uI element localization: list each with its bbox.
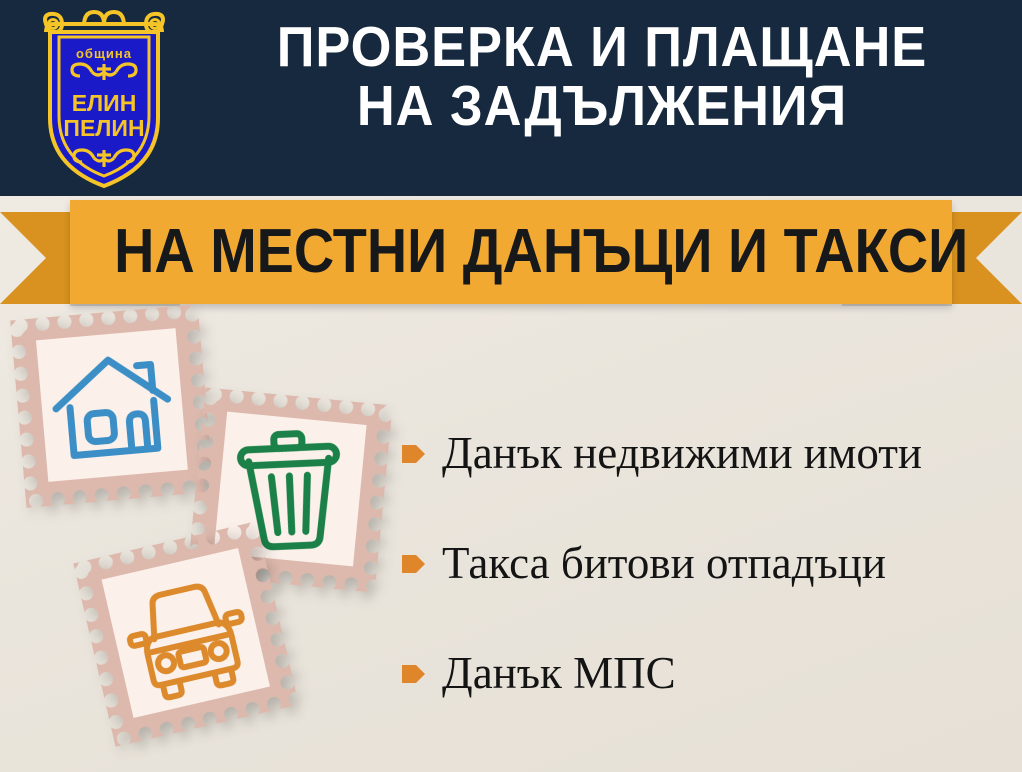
list-item[interactable]: Такса битови отпадъци	[400, 534, 1010, 592]
list-item[interactable]: Данък недвижими имоти	[400, 424, 1010, 482]
arrow-bullet-icon	[400, 662, 426, 686]
title-line-2: НА ЗАДЪЛЖЕНИЯ	[223, 77, 981, 136]
list-item-label: Данък недвижими имоти	[442, 431, 922, 476]
list-item-label: Данък МПС	[442, 651, 676, 696]
page-title: ПРОВЕРКА И ПЛАЩАНЕ НА ЗАДЪЛЖЕНИЯ	[190, 18, 1014, 137]
list-item[interactable]: Данък МПС	[400, 644, 1010, 702]
arrow-bullet-icon	[400, 442, 426, 466]
stamp-house	[10, 304, 214, 508]
svg-text:ЕЛИН: ЕЛИН	[72, 90, 137, 116]
list-item-label: Такса битови отпадъци	[442, 541, 886, 586]
subtitle-ribbon: НА МЕСТНИ ДАНЪЦИ И ТАКСИ	[0, 196, 1022, 312]
svg-text:ПЕЛИН: ПЕЛИН	[63, 115, 144, 141]
ribbon-label: НА МЕСТНИ ДАНЪЦИ И ТАКСИ	[114, 208, 908, 296]
title-line-1: ПРОВЕРКА И ПЛАЩАНЕ	[223, 18, 981, 77]
coat-of-arms-shield-icon: община ЕЛИН ПЕЛИН	[22, 6, 186, 192]
poster-root: община ЕЛИН ПЕЛИН	[0, 0, 1022, 772]
ribbon-band: НА МЕСТНИ ДАНЪЦИ И ТАКСИ	[70, 200, 952, 304]
service-list: Данък недвижими имоти Такса битови отпад…	[400, 424, 1010, 754]
arrow-bullet-icon	[400, 552, 426, 576]
svg-text:община: община	[76, 46, 132, 61]
header-banner: община ЕЛИН ПЕЛИН	[0, 0, 1022, 196]
